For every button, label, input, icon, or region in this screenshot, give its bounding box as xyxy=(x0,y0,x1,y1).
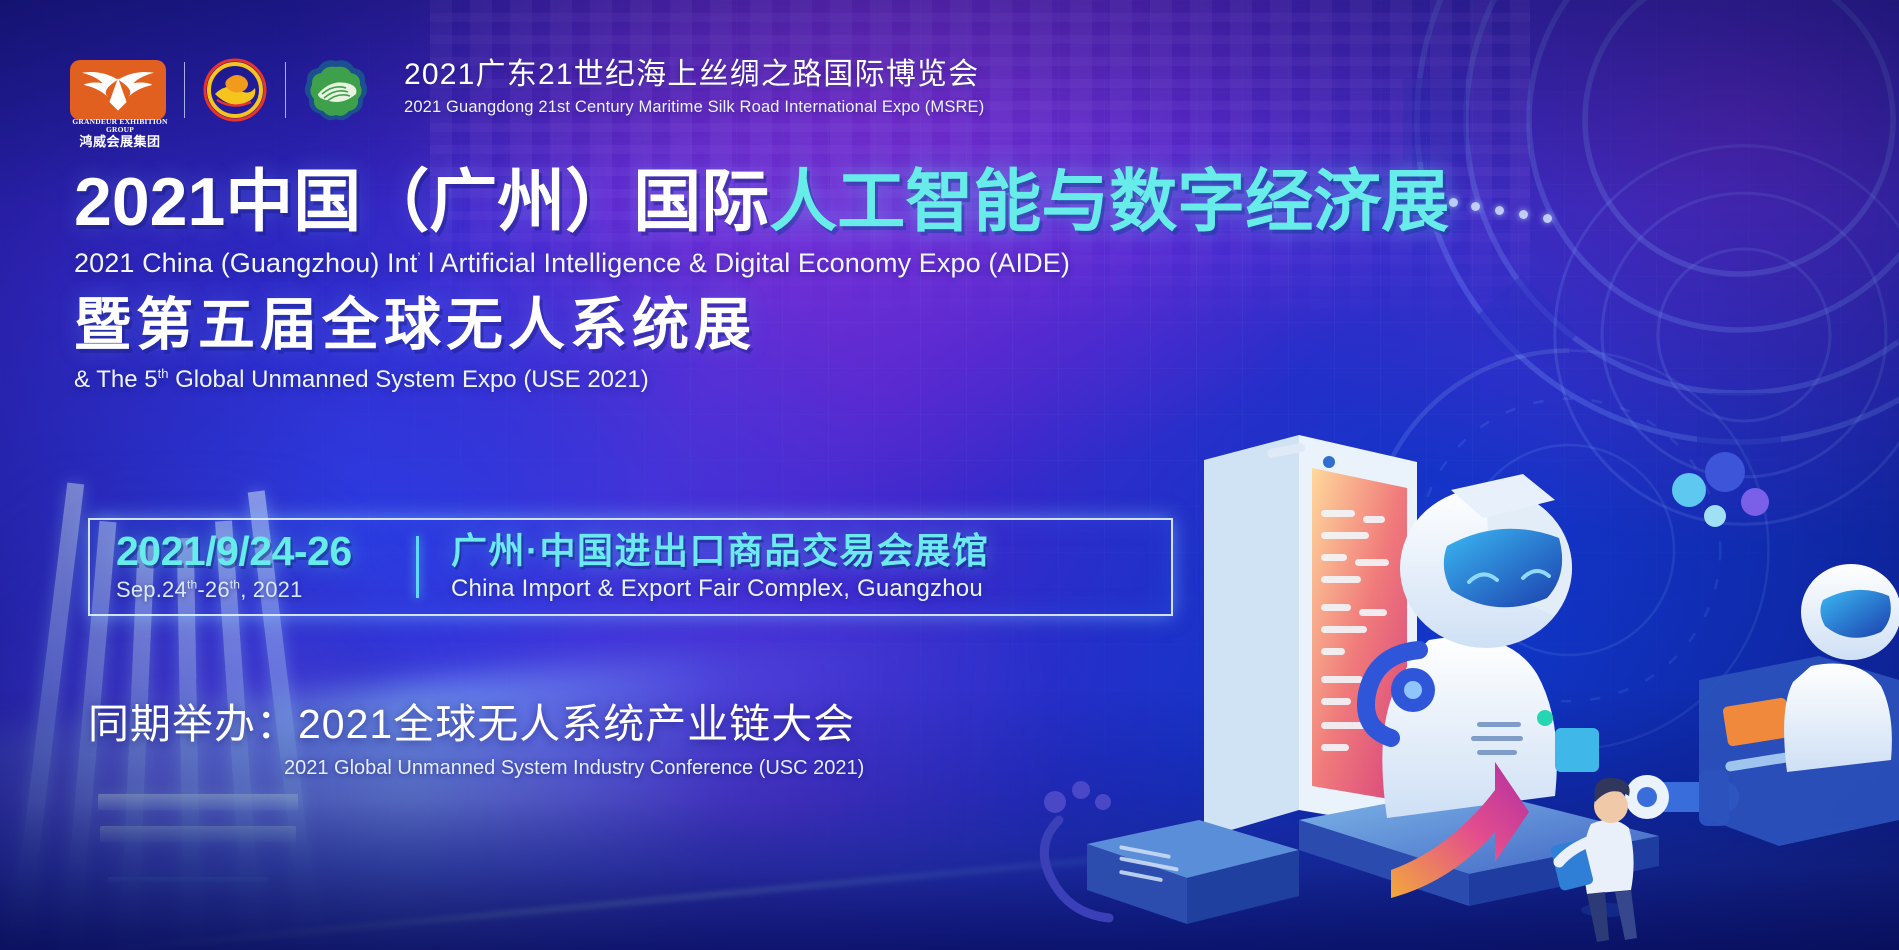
concurrent-conference-block: 同期举办：2021全球无人系统产业链大会 2021 Global Unmanne… xyxy=(88,690,864,780)
date-venue-divider xyxy=(416,536,419,598)
title2-en-sup: th xyxy=(158,366,169,381)
guangdong-expo-emblem[interactable] xyxy=(304,58,368,122)
dot-trail-decoration xyxy=(1449,196,1569,222)
main-title-line1: 2021中国（广州）国际人工智能与数字经济展 xyxy=(74,168,1449,236)
main-title-line2-en: & The 5th Global Unmanned System Expo (U… xyxy=(74,366,1449,394)
organizer-title-cn: 2021广东21世纪海上丝绸之路国际博览会 xyxy=(404,58,984,93)
main-title-cyan-part: 人工智能与数字经济展 xyxy=(769,164,1449,240)
ai-illustration-group xyxy=(999,350,1899,950)
maritime-silk-road-emblem[interactable] xyxy=(203,58,267,122)
date-sub-sup2: th xyxy=(230,578,240,592)
title2-en-post: Global Unmanned System Expo (USE 2021) xyxy=(168,366,648,393)
grandeur-exhibition-group-logo[interactable] xyxy=(70,60,166,120)
title-block: 2021中国（广州）国际人工智能与数字经济展 2021 China (Guang… xyxy=(74,168,1449,394)
grandeur-caption-cn: 鸿威会展集团 xyxy=(70,135,170,149)
title2-en-pre: & The 5 xyxy=(74,366,158,393)
grandeur-caption-en: GRANDEUR EXHIBITION GROUP xyxy=(70,118,170,134)
event-date: 2021/9/24-26 xyxy=(116,531,408,572)
expo-banner: 2021广东21世纪海上丝绸之路国际博览会 2021 Guangdong 21s… xyxy=(0,0,1899,950)
date-sub-sup1: th xyxy=(187,578,197,592)
title-en-pre: 2021 China (Guangzhou) Int xyxy=(74,248,417,278)
date-sub-mid: -26 xyxy=(197,577,229,602)
venue-column: 广州·中国进出口商品交易会展馆 China Import & Export Fa… xyxy=(451,531,990,603)
conference-title-cn: 同期举办：2021全球无人系统产业链大会 xyxy=(88,690,864,750)
event-date-en: Sep.24th-26th, 2021 xyxy=(116,577,408,603)
date-venue-box: 2021/9/24-26 Sep.24th-26th, 2021 广州·中国进出… xyxy=(88,518,1173,616)
title-en-post: l Artificial Intelligence & Digital Econ… xyxy=(421,248,1070,278)
venue-name-en: China Import & Export Fair Complex, Guan… xyxy=(451,575,990,603)
main-title-line1-en: 2021 China (Guangzhou) Int’ l Artificial… xyxy=(74,248,1449,279)
logo-divider-2 xyxy=(285,62,286,118)
wings-icon xyxy=(75,64,161,116)
person-with-tablet xyxy=(1550,778,1637,942)
date-column: 2021/9/24-26 Sep.24th-26th, 2021 xyxy=(116,531,408,603)
date-sub-post: , 2021 xyxy=(240,577,302,602)
logo-divider-1 xyxy=(184,62,185,118)
conference-title-en: 2021 Global Unmanned System Industry Con… xyxy=(284,757,864,780)
organizer-text-block: 2021广东21世纪海上丝绸之路国际博览会 2021 Guangdong 21s… xyxy=(404,58,984,123)
date-sub-pre: Sep.24 xyxy=(116,577,187,602)
grandeur-logo-caption: GRANDEUR EXHIBITION GROUP 鸿威会展集团 xyxy=(70,118,170,148)
main-title-line2: 暨第五届全球无人系统展 xyxy=(74,297,1449,354)
main-title-white-part: 2021中国（广州）国际 xyxy=(74,164,769,240)
venue-name-cn: 广州·中国进出口商品交易会展馆 xyxy=(451,531,990,571)
header-logo-bar: 2021广东21世纪海上丝绸之路国际博览会 2021 Guangdong 21s… xyxy=(70,58,984,123)
organizer-title-en: 2021 Guangdong 21st Century Maritime Sil… xyxy=(404,98,984,117)
particle-cluster xyxy=(1672,452,1769,527)
